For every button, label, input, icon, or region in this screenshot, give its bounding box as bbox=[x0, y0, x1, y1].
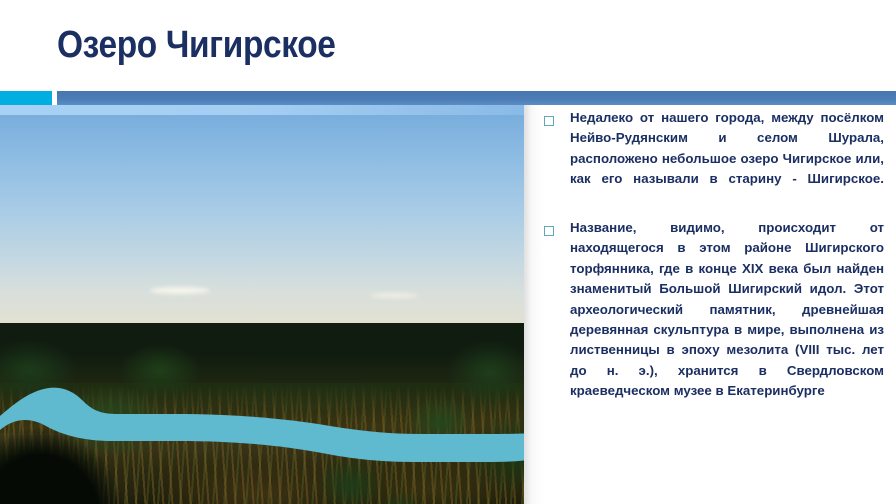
hollow-square-bullet-icon bbox=[544, 116, 554, 126]
presentation-slide: Озеро Чигирское Недалеко от нашего город… bbox=[0, 0, 896, 504]
accent-bar-steel bbox=[57, 91, 896, 105]
list-item-text: Недалеко от нашего города, между посёлко… bbox=[570, 108, 884, 210]
hollow-square-bullet-icon bbox=[544, 226, 554, 236]
lake-chigirskoe-photo bbox=[0, 115, 530, 504]
list-item[interactable]: Название, видимо, происходит от находяще… bbox=[544, 218, 884, 402]
photo-cloud bbox=[370, 293, 418, 298]
photo-cloud bbox=[150, 287, 210, 294]
list-item-text: Название, видимо, происходит от находяще… bbox=[570, 218, 884, 402]
page-title: Озеро Чигирское bbox=[57, 26, 336, 66]
photo-sky bbox=[0, 115, 530, 323]
bullet-list: Недалеко от нашего города, между посёлко… bbox=[544, 108, 884, 498]
list-item[interactable]: Недалеко от нашего города, между посёлко… bbox=[544, 108, 884, 210]
photo-bush-right bbox=[370, 323, 530, 504]
text-panel-shadow-edge bbox=[524, 105, 544, 504]
title-area: Озеро Чигирское bbox=[0, 0, 896, 92]
accent-bar-cyan bbox=[0, 91, 52, 105]
photo-foreground-shadow bbox=[0, 411, 150, 504]
